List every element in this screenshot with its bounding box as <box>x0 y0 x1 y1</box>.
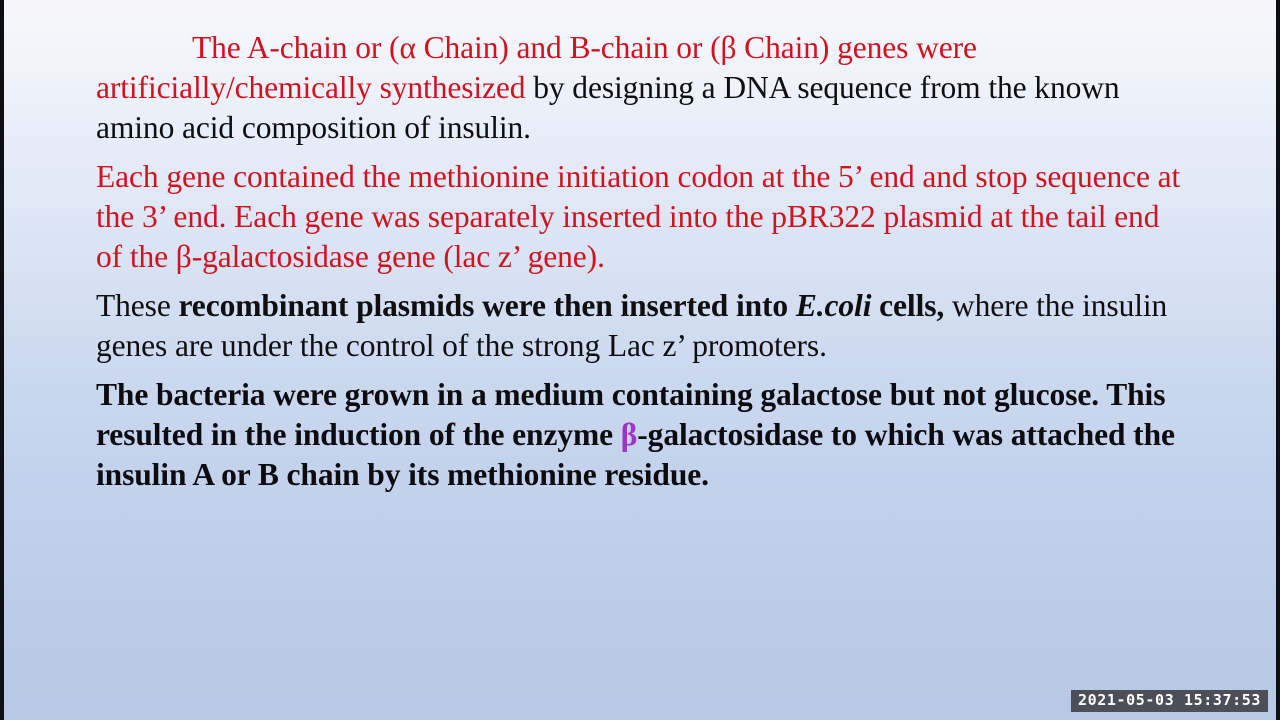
paragraph-2-run-1: Each gene contained the methionine initi… <box>96 159 1180 274</box>
paragraph-4: The bacteria were grown in a medium cont… <box>96 375 1192 495</box>
paragraph-3-run-3-ecoli: E.coli <box>796 288 872 323</box>
paragraph-1: The A-chain or (α Chain) and B-chain or … <box>96 28 1192 148</box>
paragraph-3: These recombinant plasmids were then ins… <box>96 286 1192 366</box>
paragraph-3-run-4: cells, <box>871 288 944 323</box>
paragraph-2: Each gene contained the methionine initi… <box>96 157 1192 277</box>
timestamp-watermark: 2021-05-03 15:37:53 <box>1071 690 1268 712</box>
paragraph-4-run-2-beta-symbol: β <box>621 417 638 452</box>
slide-canvas: The A-chain or (α Chain) and B-chain or … <box>0 0 1280 720</box>
paragraph-3-run-1: These <box>96 288 179 323</box>
paragraph-3-run-2: recombinant plasmids were then inserted … <box>179 288 796 323</box>
slide-body-text: The A-chain or (α Chain) and B-chain or … <box>96 28 1192 495</box>
